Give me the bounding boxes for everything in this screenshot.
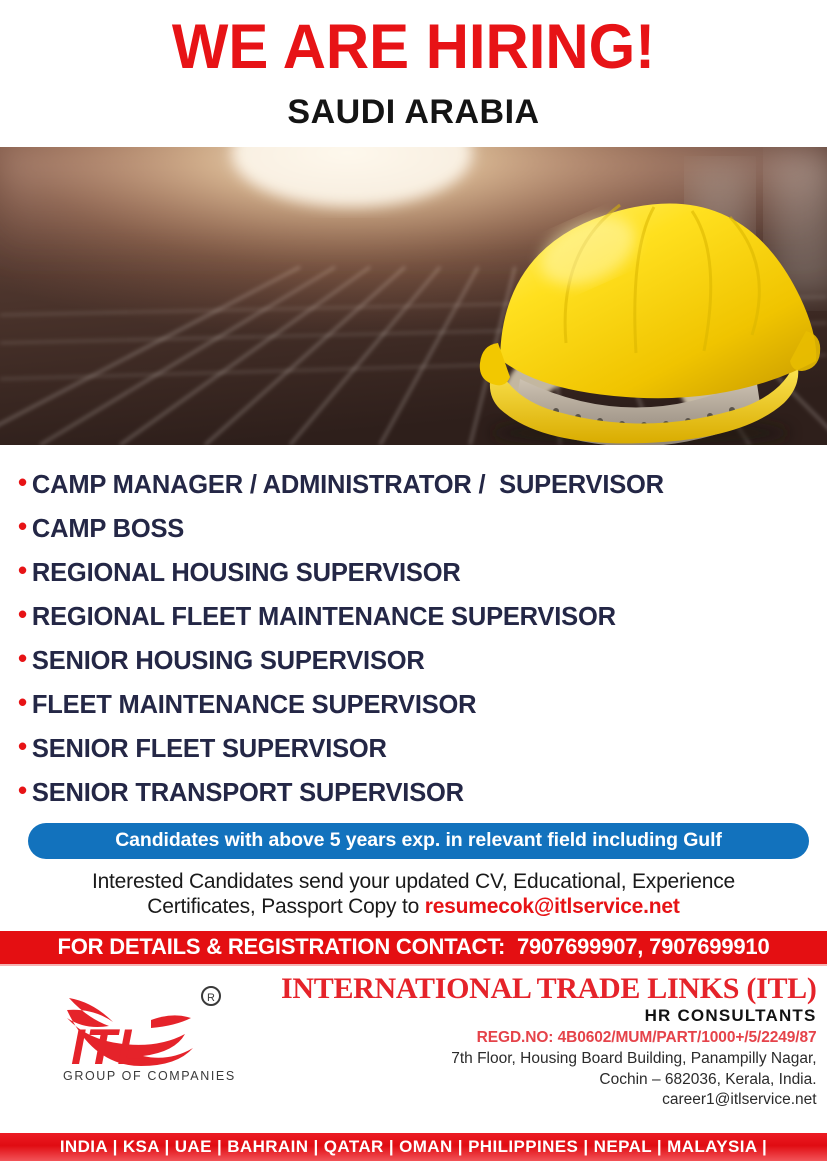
hero-photo: [0, 147, 827, 445]
company-details: INTERNATIONAL TRADE LINKS (ITL) HR CONSU…: [281, 972, 826, 1111]
bullet-icon: •: [18, 733, 27, 759]
company-tagline: HR CONSULTANTS: [281, 1005, 817, 1026]
job-title: SENIOR HOUSING SUPERVISOR: [32, 649, 425, 675]
bullet-icon: •: [18, 689, 27, 715]
list-item: • SENIOR HOUSING SUPERVISOR: [18, 647, 827, 675]
instructions-line-2-prefix: Certificates, Passport Copy to: [147, 895, 424, 918]
registered-trademark-icon: R: [202, 987, 220, 1005]
svg-text:ITL: ITL: [71, 1019, 149, 1075]
contact-phone-numbers[interactable]: 7907699907, 7907699910: [517, 934, 770, 960]
address-line-2: Cochin – 682036, Kerala, India.: [281, 1070, 817, 1090]
itl-eagle-logo-icon: R ITL GROUP OF COMPANIES: [55, 976, 235, 1084]
country-list: INDIA | KSA | UAE | BAHRAIN | QATAR | OM…: [60, 1137, 767, 1157]
job-title: REGIONAL FLEET MAINTENANCE SUPERVISOR: [32, 605, 616, 631]
company-logo: R ITL GROUP OF COMPANIES: [9, 972, 281, 1084]
page-title: WE ARE HIRING!: [21, 14, 807, 80]
bullet-icon: •: [18, 645, 27, 671]
job-title: REGIONAL HOUSING SUPERVISOR: [32, 561, 461, 587]
hiring-poster: WE ARE HIRING! SAUDI ARABIA: [0, 0, 827, 1169]
contact-bar-label: FOR DETAILS & REGISTRATION CONTACT:: [57, 934, 516, 960]
bullet-icon: •: [18, 469, 27, 495]
list-item: • CAMP BOSS: [18, 515, 827, 543]
svg-text:GROUP OF COMPANIES: GROUP OF COMPANIES: [63, 1069, 235, 1083]
job-list: • CAMP MANAGER / ADMINISTRATOR / SUPERVI…: [0, 445, 827, 807]
bullet-icon: •: [18, 557, 27, 583]
list-item: • FLEET MAINTENANCE SUPERVISOR: [18, 691, 827, 719]
bullet-icon: •: [18, 777, 27, 803]
bullet-icon: •: [18, 513, 27, 539]
company-email[interactable]: career1@itlservice.net: [281, 1090, 817, 1110]
application-instructions: Interested Candidates send your updated …: [0, 859, 827, 920]
resume-email-link[interactable]: resumecok@itlservice.net: [425, 895, 680, 918]
job-title: SENIOR FLEET SUPERVISOR: [32, 737, 387, 763]
hard-hat-illustration: [0, 147, 827, 445]
list-item: • SENIOR FLEET SUPERVISOR: [18, 735, 827, 763]
list-item: • REGIONAL HOUSING SUPERVISOR: [18, 559, 827, 587]
job-title: CAMP MANAGER / ADMINISTRATOR / SUPERVISO…: [32, 473, 664, 499]
list-item: • SENIOR TRANSPORT SUPERVISOR: [18, 779, 827, 807]
job-title: SENIOR TRANSPORT SUPERVISOR: [32, 781, 464, 807]
company-name: INTERNATIONAL TRADE LINKS (ITL): [281, 974, 817, 1004]
experience-banner-text: Candidates with above 5 years exp. in re…: [115, 829, 722, 852]
svg-text:R: R: [207, 992, 215, 1004]
job-title: FLEET MAINTENANCE SUPERVISOR: [32, 693, 476, 719]
list-item: • CAMP MANAGER / ADMINISTRATOR / SUPERVI…: [18, 471, 827, 499]
experience-banner: Candidates with above 5 years exp. in re…: [28, 823, 809, 859]
registration-number: REGD.NO: 4B0602/MUM/PART/1000+/5/2249/87: [281, 1028, 817, 1048]
address-line-1: 7th Floor, Housing Board Building, Panam…: [281, 1049, 817, 1069]
contact-bar: FOR DETAILS & REGISTRATION CONTACT: 7907…: [0, 931, 827, 964]
list-item: • REGIONAL FLEET MAINTENANCE SUPERVISOR: [18, 603, 827, 631]
poster-header: WE ARE HIRING! SAUDI ARABIA: [0, 0, 827, 132]
location-subtitle: SAUDI ARABIA: [0, 94, 827, 131]
footer: R ITL GROUP OF COMPANIES INTERNATIONAL T…: [0, 966, 827, 1092]
country-strip: INDIA | KSA | UAE | BAHRAIN | QATAR | OM…: [0, 1133, 827, 1161]
bullet-icon: •: [18, 601, 27, 627]
instructions-line-1: Interested Candidates send your updated …: [22, 869, 805, 895]
job-title: CAMP BOSS: [32, 517, 184, 543]
instructions-line-2: Certificates, Passport Copy to resumecok…: [22, 894, 805, 920]
